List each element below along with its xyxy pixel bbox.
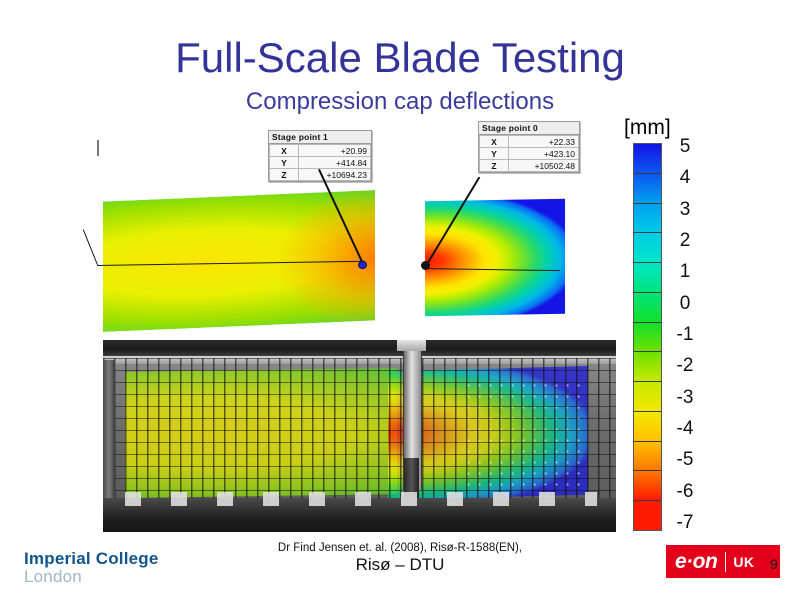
table-row: Z +10502.48 (480, 160, 579, 172)
colorbar-tick-label: -3 (668, 388, 702, 407)
imperial-college-logo: Imperial College London (24, 550, 159, 586)
stage0-x-label: X (480, 136, 509, 148)
left-plot-reference-line-diagonal (83, 229, 98, 265)
colorbar-tick-label: 0 (668, 294, 702, 313)
colorbar-tick-label: -7 (668, 513, 702, 532)
imperial-college-name: Imperial College (24, 550, 159, 568)
table-row: X +20.99 (270, 145, 371, 157)
colorbar-segment (634, 204, 661, 234)
colorbar-segment (634, 442, 661, 472)
colorbar-tick-label: 2 (668, 231, 702, 250)
colorbar-segment (634, 412, 661, 442)
slide-canvas: Full-Scale Blade Testing Compression cap… (0, 0, 800, 600)
colorbar-tick-label: -4 (668, 419, 702, 438)
colorbar-tick-label: -2 (668, 356, 702, 375)
colorbar-segment (634, 382, 661, 412)
stage1-y-value: +414.84 (299, 157, 371, 169)
stage1-x-value: +20.99 (299, 145, 371, 157)
stage1-z-value: +10694.23 (299, 169, 371, 181)
colorbar-tick-label: 1 (668, 262, 702, 281)
colorbar-unit-label: [mm] (624, 116, 671, 140)
right-contour-plot (425, 200, 565, 315)
colorbar-tick-label: 5 (668, 137, 702, 156)
stage1-z-label: Z (270, 169, 299, 181)
colorbar-tick-labels: 543210-1-2-3-4-5-6-7 (668, 137, 702, 535)
colorbar-tick-label: 3 (668, 200, 702, 219)
stage1-y-label: Y (270, 157, 299, 169)
colorbar-segment (634, 263, 661, 293)
photo-support-blocks (125, 492, 597, 506)
colorbar-segment (634, 174, 661, 204)
stage-point-0-marker (421, 261, 430, 270)
stage1-x-label: X (270, 145, 299, 157)
stage0-z-value: +10502.48 (509, 160, 579, 172)
table-row: X +22.33 (480, 136, 579, 148)
page-number: 9 (770, 556, 778, 572)
photo-left-post (103, 360, 115, 510)
page-subtitle: Compression cap deflections (0, 88, 800, 116)
right-contour-field (425, 199, 565, 316)
colorbar-segment (634, 233, 661, 263)
table-row: Y +414.84 (270, 157, 371, 169)
eon-divider (725, 552, 726, 572)
colorbar-segment (634, 501, 661, 530)
colorbar-tick-label: -5 (668, 450, 702, 469)
photo-column-cap (397, 340, 426, 351)
colorbar-tick-label: -1 (668, 325, 702, 344)
colorbar-segment (634, 293, 661, 323)
photo-upper-dark-band (103, 340, 616, 356)
colorbar-segment (634, 323, 661, 353)
stage0-z-label: Z (480, 160, 509, 172)
stage0-x-value: +22.33 (509, 136, 579, 148)
colorbar-segment (634, 471, 661, 501)
stage0-y-label: Y (480, 148, 509, 160)
stage-point-0-table: Stage point 0 X +22.33 Y +423.10 Z +1050… (478, 121, 580, 173)
imperial-college-city: London (24, 568, 159, 586)
left-tick-mark (97, 140, 99, 156)
eon-wordmark: e·on (666, 550, 717, 574)
colorbar-scale (633, 143, 662, 531)
colorbar-segment (634, 352, 661, 382)
stage0-y-value: +423.10 (509, 148, 579, 160)
page-title: Full-Scale Blade Testing (0, 36, 800, 80)
stage-point-0-header: Stage point 0 (479, 122, 579, 135)
stage-point-1-marker (358, 261, 367, 269)
colorbar-tick-label: -6 (668, 482, 702, 501)
colorbar-tick-label: 4 (668, 168, 702, 187)
eon-region-label: UK (733, 554, 754, 570)
table-row: Y +423.10 (480, 148, 579, 160)
photo-measurement-grid (103, 358, 616, 510)
colorbar-segment (634, 144, 661, 174)
eon-logo: e·on UK (666, 545, 780, 578)
blade-test-photograph (103, 340, 616, 532)
stage-point-1-header: Stage point 1 (269, 131, 371, 144)
